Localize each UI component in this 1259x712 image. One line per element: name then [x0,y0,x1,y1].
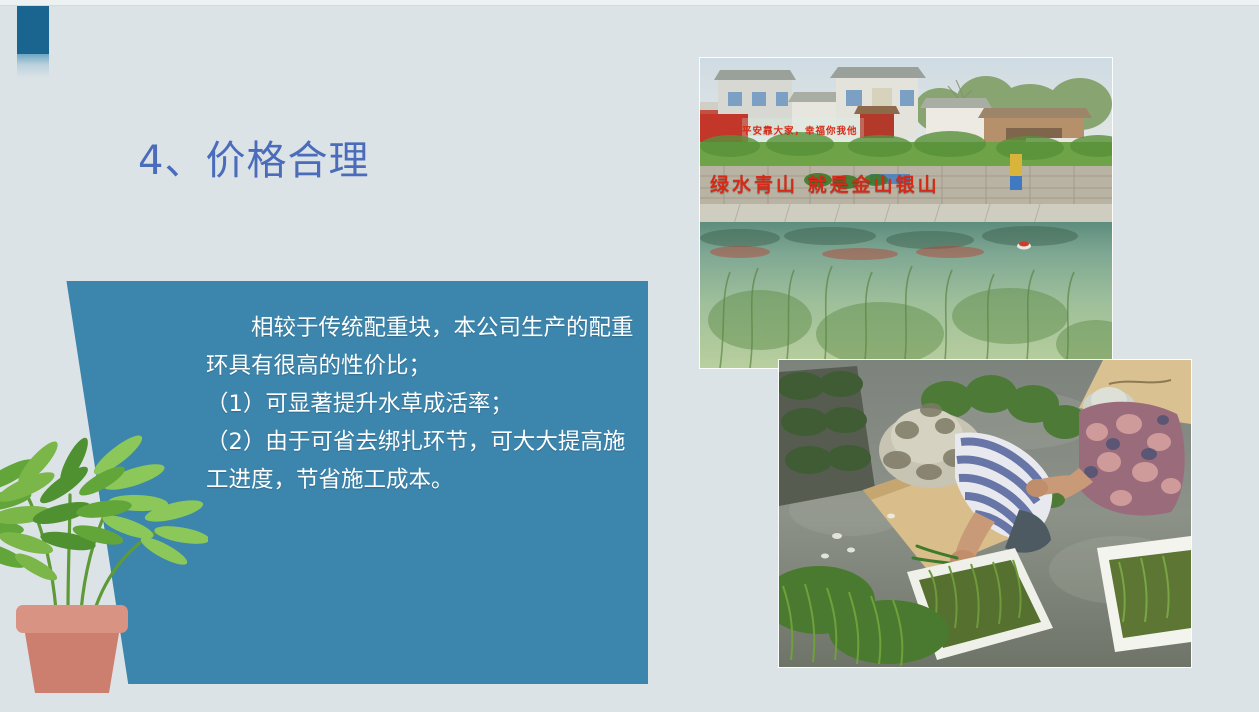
corner-marker-block [17,6,49,54]
presentation-slide: 4、价格合理 相较于传统配重块，本公司生产的配重环具有很高的性价比； （1）可显… [0,0,1259,712]
slide-top-band [0,0,1259,6]
aquatic-plant-planting-photo[interactable] [779,360,1191,667]
panel-paragraph-2: （1）可显著提升水草成活率； [206,385,636,423]
panel-paragraph-3: （2）由于可省去绑扎环节，可大大提高施工进度，节省施工成本。 [206,423,636,499]
page-title: 4、价格合理 [138,128,369,186]
corner-marker [17,6,49,78]
panel-paragraph-1: 相较于传统配重块，本公司生产的配重环具有很高的性价比； [206,309,636,385]
content-panel-text: 相较于传统配重块，本公司生产的配重环具有很高的性价比； （1）可显著提升水草成活… [206,309,636,499]
village-pond-photo[interactable]: 平安靠大家，幸福你我他 绿水青山 就是金山银山 [700,58,1112,368]
content-panel: 相较于传统配重块，本公司生产的配重环具有很高的性价比； （1）可显著提升水草成活… [60,281,648,684]
corner-marker-reflection [17,54,49,78]
